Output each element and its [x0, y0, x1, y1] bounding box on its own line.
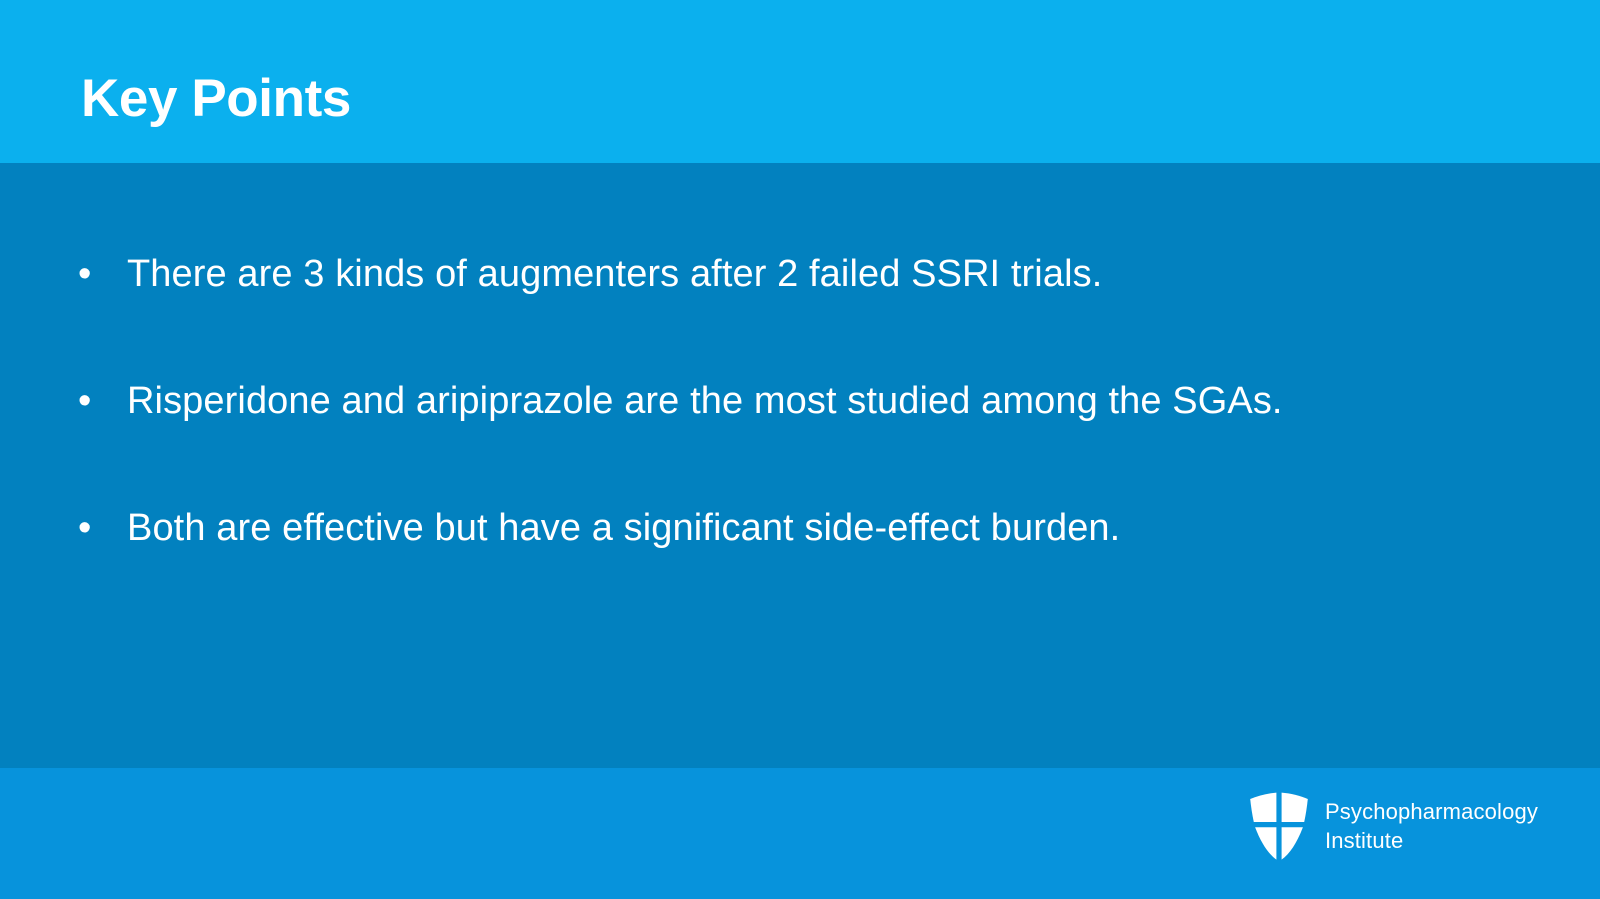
page-title: Key Points: [81, 72, 351, 125]
slide: Key Points • There are 3 kinds of augmen…: [0, 0, 1600, 899]
brand-name-line-1: Psychopharmacology: [1325, 797, 1538, 826]
slide-footer-band: Psychopharmacology Institute: [0, 768, 1600, 899]
list-item: • Risperidone and aripiprazole are the m…: [78, 375, 1558, 427]
bullet-text: There are 3 kinds of augmenters after 2 …: [127, 248, 1558, 300]
brand-logo: Psychopharmacology Institute: [1249, 790, 1538, 862]
brand-name-line-2: Institute: [1325, 826, 1538, 855]
bullet-point-icon: •: [78, 248, 127, 300]
list-item: • Both are effective but have a signific…: [78, 502, 1558, 554]
shield-logo-icon: [1249, 790, 1309, 862]
list-item: • There are 3 kinds of augmenters after …: [78, 248, 1558, 300]
bullet-point-icon: •: [78, 375, 127, 427]
bullet-text: Risperidone and aripiprazole are the mos…: [127, 375, 1558, 427]
slide-header-band: Key Points: [0, 0, 1600, 163]
bullet-point-icon: •: [78, 502, 127, 554]
bullet-text: Both are effective but have a significan…: [127, 502, 1558, 554]
brand-wordmark: Psychopharmacology Institute: [1325, 797, 1538, 855]
slide-body: • There are 3 kinds of augmenters after …: [0, 163, 1600, 768]
